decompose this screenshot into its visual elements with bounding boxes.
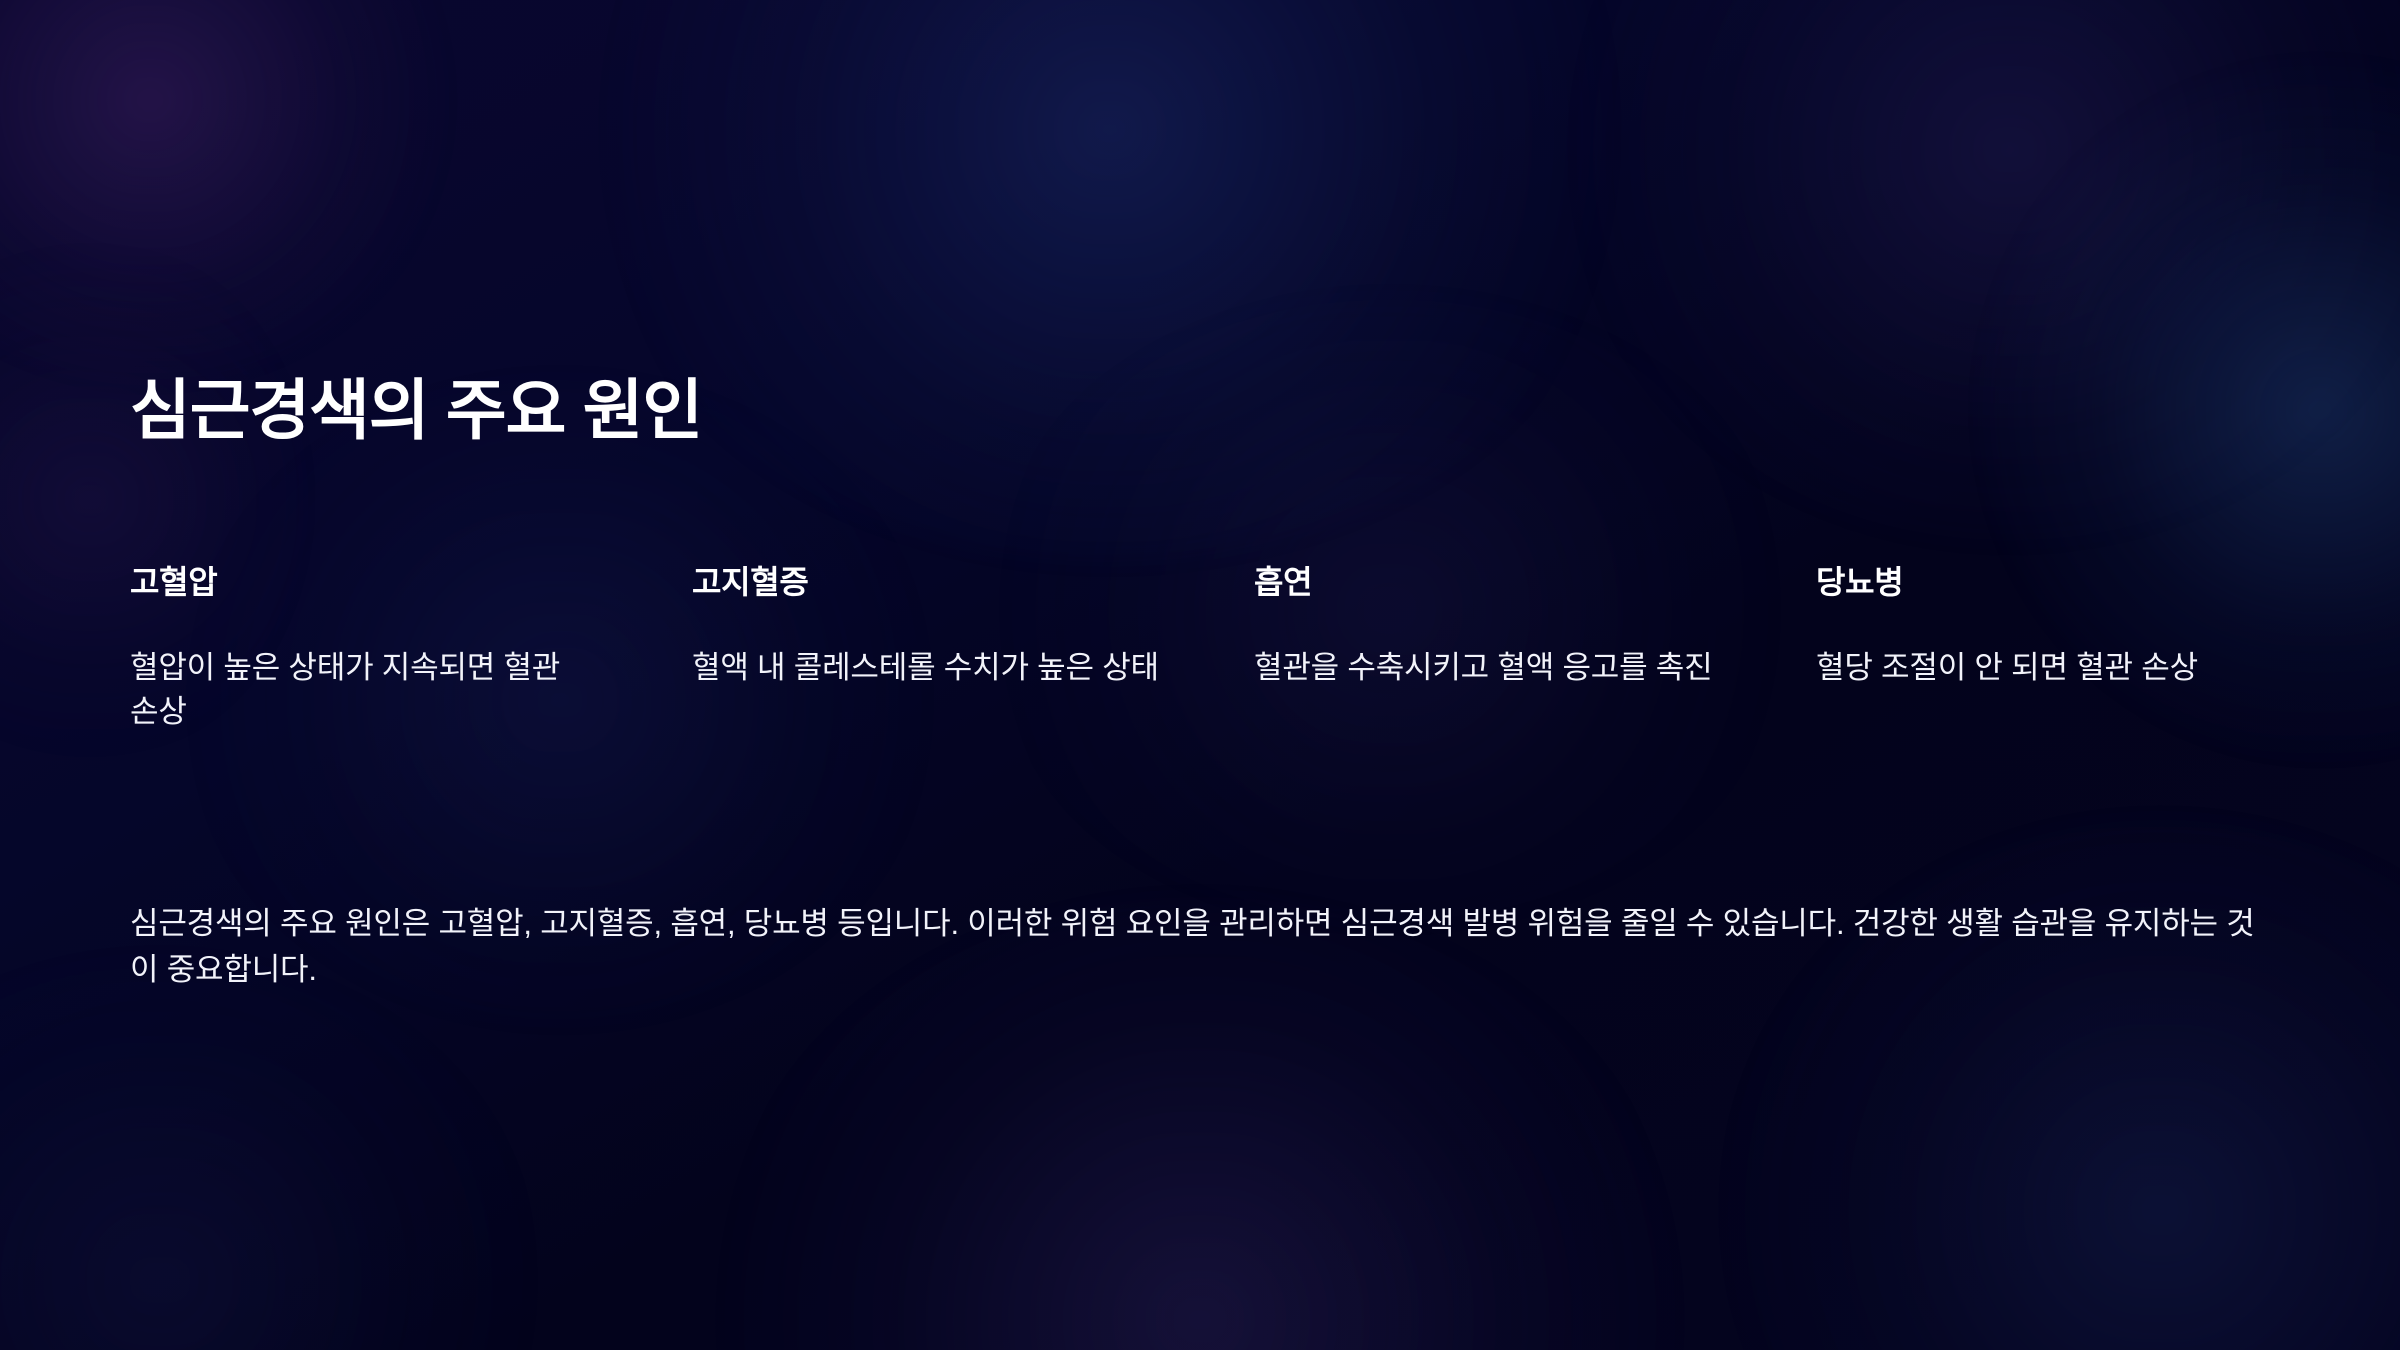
- cause-column-diabetes: 당뇨병 혈당 조절이 안 되면 혈관 손상: [1816, 562, 2286, 734]
- presentation-slide: 심근경색의 주요 원인 고혈압 혈압이 높은 상태가 지속되면 혈관 손상 고지…: [0, 0, 2400, 1350]
- cause-columns: 고혈압 혈압이 높은 상태가 지속되면 혈관 손상 고지혈증 혈액 내 콜레스테…: [130, 562, 2290, 734]
- slide-title: 심근경색의 주요 원인: [130, 374, 702, 448]
- cause-heading: 고지혈증: [692, 562, 1162, 602]
- cause-description: 혈당 조절이 안 되면 혈관 손상: [1816, 646, 2286, 690]
- cause-heading: 고혈압: [130, 562, 600, 602]
- cause-description: 혈압이 높은 상태가 지속되면 혈관 손상: [130, 646, 600, 734]
- cause-column-hypertension: 고혈압 혈압이 높은 상태가 지속되면 혈관 손상: [130, 562, 600, 734]
- cause-heading: 흡연: [1254, 562, 1724, 602]
- cause-column-smoking: 흡연 혈관을 수축시키고 혈액 응고를 촉진: [1254, 562, 1724, 734]
- slide-summary-paragraph: 심근경색의 주요 원인은 고혈압, 고지혈증, 흡연, 당뇨병 등입니다. 이러…: [130, 901, 2270, 993]
- cause-column-hyperlipidemia: 고지혈증 혈액 내 콜레스테롤 수치가 높은 상태: [692, 562, 1162, 734]
- slide-content: 심근경색의 주요 원인 고혈압 혈압이 높은 상태가 지속되면 혈관 손상 고지…: [0, 0, 2400, 1350]
- cause-description: 혈관을 수축시키고 혈액 응고를 촉진: [1254, 646, 1724, 690]
- cause-description: 혈액 내 콜레스테롤 수치가 높은 상태: [692, 646, 1162, 690]
- cause-heading: 당뇨병: [1816, 562, 2286, 602]
